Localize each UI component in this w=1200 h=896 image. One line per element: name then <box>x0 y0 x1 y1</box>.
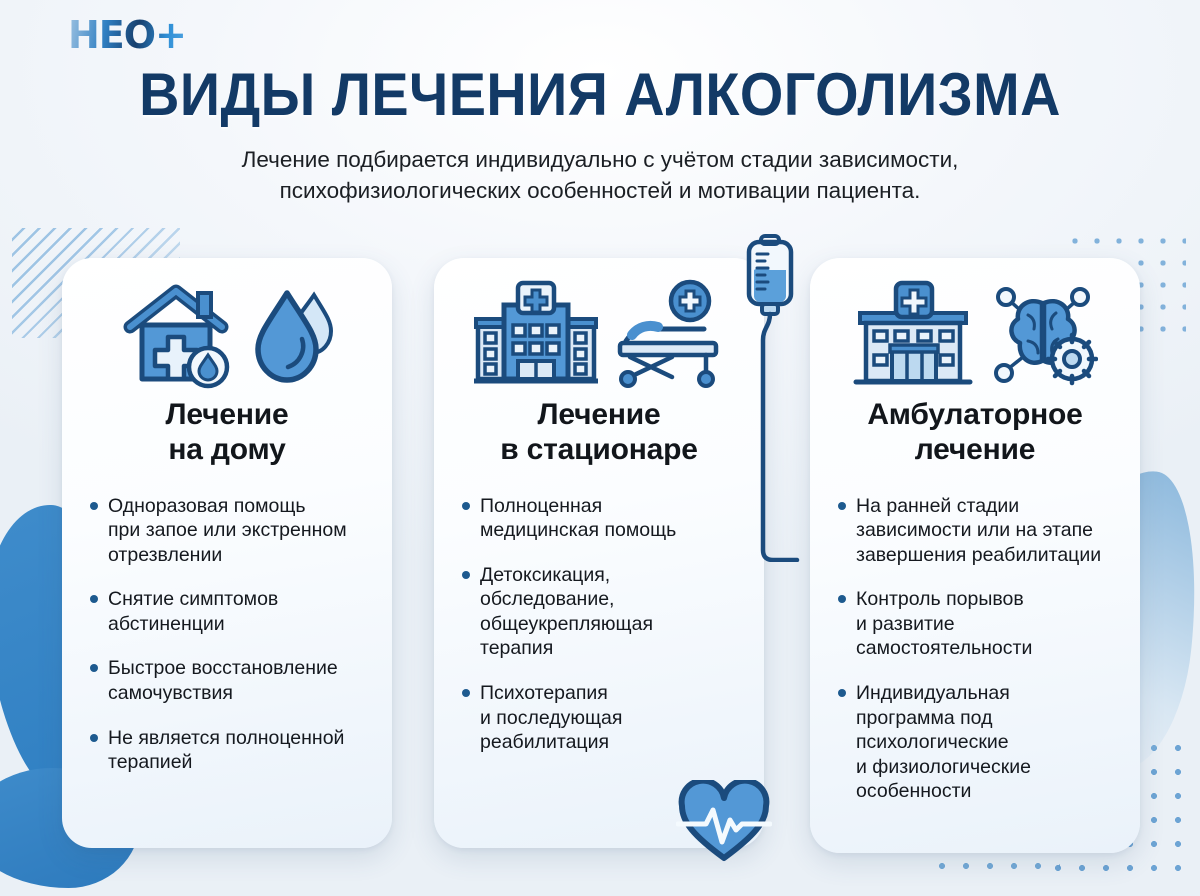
card-bullet-list: На ранней стадии зависимости или на этап… <box>810 494 1140 804</box>
card-home-treatment[interactable]: Лечение на дому Одноразовая помощь при з… <box>62 258 392 848</box>
card-icon-group <box>62 258 392 398</box>
bullet-line: самостоятельности <box>856 636 1120 661</box>
card-title-line-2: в стационаре <box>448 433 750 468</box>
card-title: Лечение в стационаре <box>434 398 764 468</box>
card-title-line-1: Лечение <box>448 398 750 433</box>
bullet-line: зависимости или на этапе <box>856 518 1120 543</box>
bullet-line: реабилитация <box>480 730 744 755</box>
list-item: На ранней стадии зависимости или на этап… <box>836 494 1120 568</box>
bullet-line: Полноценная <box>480 494 744 519</box>
water-droplet-icon <box>252 279 334 389</box>
bullet-line: завершения реабилитации <box>856 543 1120 568</box>
bullet-line: и развитие <box>856 612 1120 637</box>
bullet-line: самочувствия <box>108 681 372 706</box>
bullet-line: отрезвлении <box>108 543 372 568</box>
card-icon-group <box>810 258 1140 398</box>
bullet-line: медицинская помощь <box>480 518 744 543</box>
bullet-line: Психотерапия <box>480 681 744 706</box>
subtitle-line-2: психофизиологических особенностей и моти… <box>100 175 1100 206</box>
card-title: Лечение на дому <box>62 398 392 468</box>
bullet-line: Снятие симптомов <box>108 587 372 612</box>
bullet-line: при запое или экстренном <box>108 518 372 543</box>
bullet-line: терапия <box>480 636 744 661</box>
card-outpatient-treatment[interactable]: Амбулаторное лечение На ранней стадии за… <box>810 258 1140 853</box>
bullet-line: Детоксикация, <box>480 563 744 588</box>
list-item: Одноразовая помощь при запое или экстрен… <box>88 494 372 568</box>
bullet-line: Быстрое восстановление <box>108 656 372 681</box>
bullet-line: абстиненции <box>108 612 372 637</box>
bullet-line: Индивидуальная <box>856 681 1120 706</box>
bullet-line: Не является полноценной <box>108 726 372 751</box>
iv-drip-icon <box>735 232 805 562</box>
bullet-line: и физиологические <box>856 755 1120 780</box>
bullet-line: психологические <box>856 730 1120 755</box>
bullet-line: программа под <box>856 706 1120 731</box>
hospital-building-icon <box>474 279 598 389</box>
list-item: Контроль порывов и развитие самостоятель… <box>836 587 1120 661</box>
bullet-line: терапией <box>108 750 372 775</box>
list-item: Индивидуальная программа под психологиче… <box>836 681 1120 804</box>
list-item: Полноценная медицинская помощь <box>460 494 744 543</box>
list-item: Снятие симптомов абстиненции <box>88 587 372 636</box>
heart-pulse-icon <box>676 780 772 864</box>
subtitle-line-1: Лечение подбирается индивидуально с учёт… <box>100 144 1100 175</box>
bullet-line: общеукрепляющая <box>480 612 744 637</box>
hospital-bed-icon <box>612 279 724 389</box>
bullet-line: Контроль порывов <box>856 587 1120 612</box>
bullet-line: На ранней стадии <box>856 494 1120 519</box>
card-bullet-list: Одноразовая помощь при запое или экстрен… <box>62 494 392 775</box>
card-icon-group <box>434 258 764 398</box>
bullet-line: особенности <box>856 779 1120 804</box>
infographic-canvas: НЕО+ ВИДЫ ЛЕЧЕНИЯ АЛКОГОЛИЗМА Лечение по… <box>0 0 1200 896</box>
list-item: Не является полноценной терапией <box>88 726 372 775</box>
card-title-line-1: Амбулаторное <box>824 398 1126 433</box>
card-bullet-list: Полноценная медицинская помощь Детоксика… <box>434 494 764 755</box>
bullet-line: и последующая <box>480 706 744 731</box>
list-item: Детоксикация, обследование, общеукрепляю… <box>460 563 744 661</box>
list-item: Быстрое восстановление самочувствия <box>88 656 372 705</box>
bullet-line: обследование, <box>480 587 744 612</box>
card-title: Амбулаторное лечение <box>810 398 1140 468</box>
clinic-building-icon <box>852 279 974 389</box>
card-title-line-1: Лечение <box>76 398 378 433</box>
house-medical-icon <box>120 279 238 389</box>
page-title: ВИДЫ ЛЕЧЕНИЯ АЛКОГОЛИЗМА <box>42 60 1158 129</box>
card-inpatient-treatment[interactable]: Лечение в стационаре Полноценная медицин… <box>434 258 764 848</box>
card-title-line-2: на дому <box>76 433 378 468</box>
brain-gear-icon <box>988 279 1098 389</box>
brand-logo: НЕО+ <box>68 16 186 54</box>
page-subtitle: Лечение подбирается индивидуально с учёт… <box>100 144 1100 206</box>
bullet-line: Одноразовая помощь <box>108 494 372 519</box>
list-item: Психотерапия и последующая реабилитация <box>460 681 744 755</box>
card-title-line-2: лечение <box>824 433 1126 468</box>
